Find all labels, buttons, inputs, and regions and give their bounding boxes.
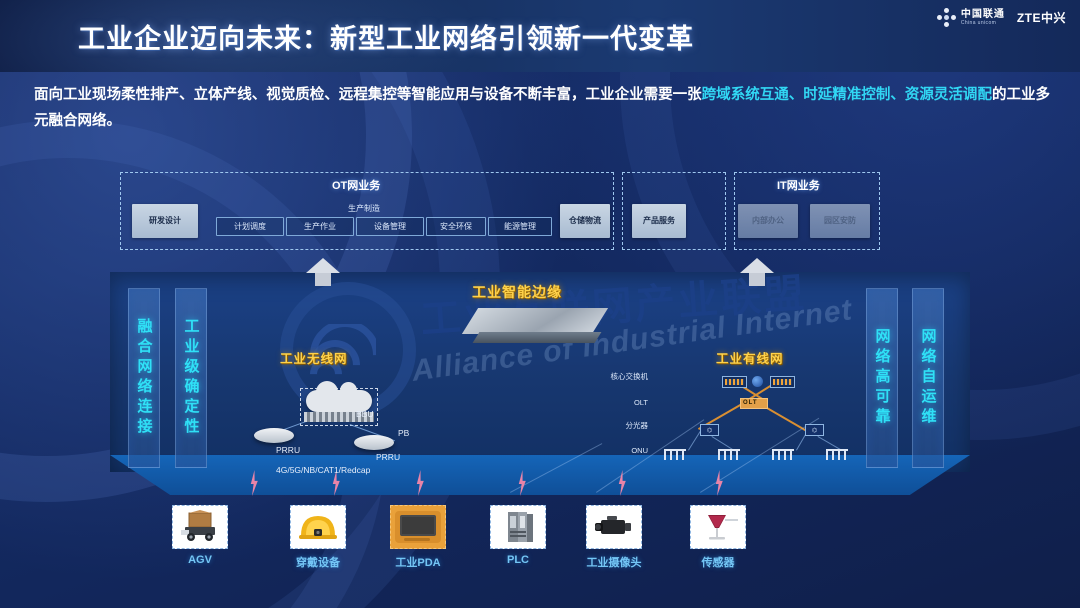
page-title: 工业企业迈向未来：新型工业网络引领新一代变革 — [78, 17, 694, 56]
ot-subchip-2[interactable]: 设备管理 — [356, 217, 424, 236]
it-zone-title: IT网业务 — [777, 177, 820, 193]
wired-row-label-splitter: 分光器 — [600, 421, 648, 430]
pillar-label-3: 网络自运维 — [918, 328, 939, 428]
device-label-agv: AGV — [172, 554, 228, 566]
prru-left-icon — [254, 428, 294, 443]
core-switch-right-icon — [770, 376, 795, 388]
wired-network-label: 工业有线网 — [716, 348, 784, 367]
splitter-left-icon: ⌬ — [700, 424, 719, 436]
helmet-icon — [290, 505, 346, 549]
business-zones: OT网业务 IT网业务 研发设计 生产制造 计划调度 生产作业 设备管理 安全环… — [120, 172, 880, 250]
ot-chip-warehouse-logistics[interactable]: 仓储物流 — [560, 204, 610, 238]
edge-server-icon — [470, 308, 600, 352]
device-industrial-camera[interactable]: 工业摄像头 — [586, 505, 642, 570]
zte-logo: ZTE中兴 — [1017, 9, 1066, 26]
china-unicom-mark-icon — [937, 8, 956, 27]
it-chip-campus-security[interactable]: 园区安防 — [810, 204, 870, 238]
ot-subchip-3[interactable]: 安全环保 — [426, 217, 486, 236]
plc-icon — [490, 505, 546, 549]
onu-icon-3 — [772, 449, 794, 460]
ot-subchip-4[interactable]: 能源管理 — [488, 217, 552, 236]
network-platform-panel — [110, 272, 970, 472]
device-agv[interactable]: AGV — [172, 505, 228, 566]
china-unicom-label-en: China unicom — [961, 21, 1005, 26]
device-industrial-pda[interactable]: 工业PDA — [390, 505, 446, 570]
wired-row-label-core-switch: 核心交换机 — [600, 372, 648, 381]
pillar-network-auto-om: 网络自运维 — [912, 288, 944, 468]
middle-chip-product-service[interactable]: 产品服务 — [632, 204, 686, 238]
device-label-wearable: 穿戴设备 — [290, 554, 346, 570]
olt-icon: OLT — [740, 398, 768, 409]
edge-computing-label: 工业智能边缘 — [472, 282, 562, 302]
ot-chip-rd-design[interactable]: 研发设计 — [132, 204, 198, 238]
subtitle-text: 面向工业现场柔性排产、立体产线、视觉质检、远程集控等智能应用与设备不断丰富，工业… — [34, 82, 1050, 134]
wired-row-label-onu: ONU — [600, 446, 648, 455]
ot-subchip-1[interactable]: 生产作业 — [286, 217, 354, 236]
china-unicom-label-cn: 中国联通 — [961, 10, 1005, 20]
onu-icon-4 — [826, 449, 848, 460]
pillar-industrial-determinism: 工业级确定性 — [175, 288, 207, 468]
ot-zone-title: OT网业务 — [332, 177, 380, 193]
wired-row-label-olt: OLT — [600, 398, 648, 407]
wireless-network-label: 工业无线网 — [280, 348, 348, 367]
prru-right-label: PRRU — [376, 452, 400, 462]
core-switch-left-icon — [722, 376, 747, 388]
prru-right-icon — [354, 435, 394, 450]
pillar-label-2: 网络高可靠 — [872, 328, 893, 428]
bbu-label: BBU — [356, 409, 373, 419]
pillar-converged-network: 融合网络连接 — [128, 288, 160, 468]
logo-group: 中国联通 China unicom ZTE中兴 — [937, 8, 1066, 27]
pda-icon — [390, 505, 446, 549]
ot-group-label-manufacturing: 生产制造 — [348, 203, 380, 214]
olt-text: OLT — [743, 399, 758, 407]
onu-icon-1 — [664, 449, 686, 460]
device-sensor[interactable]: 传感器 — [690, 505, 746, 570]
subtitle-part1: 面向工业现场柔性排产、立体产线、视觉质检、远程集控等智能应用与设备不断丰富，工业… — [34, 87, 702, 103]
china-unicom-logo: 中国联通 China unicom — [937, 8, 1005, 27]
device-wearable[interactable]: 穿戴设备 — [290, 505, 346, 570]
device-label-pda: 工业PDA — [390, 554, 446, 570]
prru-left-label: PRRU — [276, 445, 300, 455]
onu-icon-2 — [718, 449, 740, 460]
pillar-label-0: 融合网络连接 — [134, 318, 155, 438]
device-label-camera: 工业摄像头 — [586, 554, 642, 570]
wireless-tech-label: 4G/5G/NB/CAT1/Redcap — [276, 465, 370, 475]
pillar-label-1: 工业级确定性 — [181, 318, 202, 438]
device-label-plc: PLC — [490, 554, 546, 566]
subtitle-highlight: 跨域系统互通、时延精准控制、资源灵活调配 — [702, 87, 992, 103]
sensor-icon — [690, 505, 746, 549]
pillar-network-reliability: 网络高可靠 — [866, 288, 898, 468]
splitter-right-icon: ⌬ — [805, 424, 824, 436]
ot-subchip-0[interactable]: 计划调度 — [216, 217, 284, 236]
slide-root: 中国联通 China unicom ZTE中兴 工业企业迈向未来：新型工业网络引… — [0, 0, 1080, 608]
camera-icon — [586, 505, 642, 549]
device-plc[interactable]: PLC — [490, 505, 546, 566]
it-chip-internal-office[interactable]: 内部办公 — [738, 204, 798, 238]
agv-icon — [172, 505, 228, 549]
pb-label: PB — [398, 428, 409, 438]
switch-link-node-icon — [752, 376, 763, 387]
device-label-sensor: 传感器 — [690, 554, 746, 570]
